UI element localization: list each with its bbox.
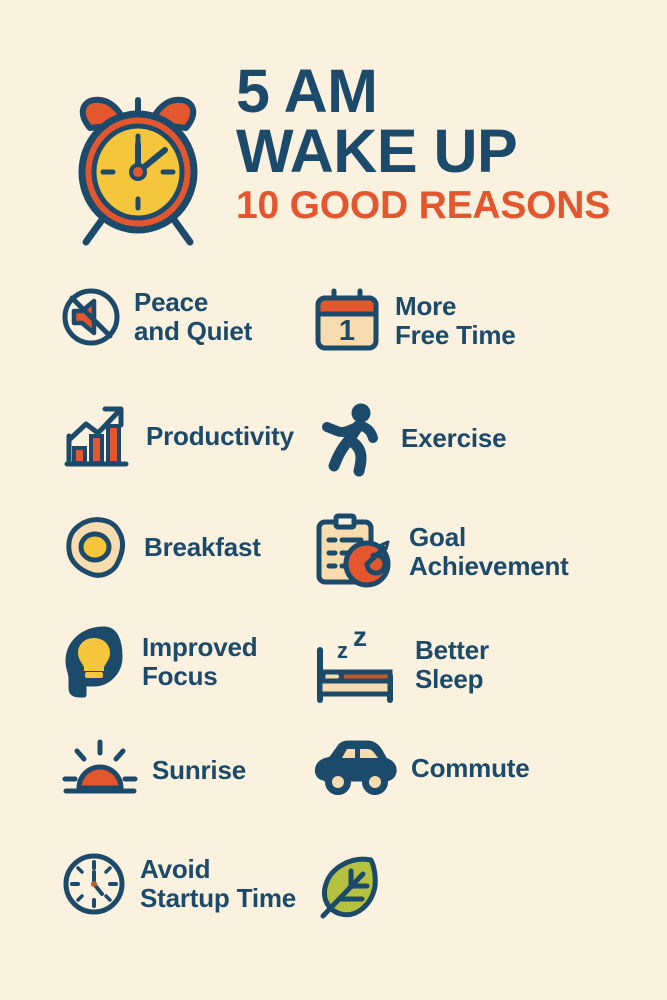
alarm-clock-icon xyxy=(48,84,228,259)
reason-label: Goal Achievement xyxy=(409,523,569,581)
sleep-z-large: z xyxy=(353,624,367,652)
car-icon xyxy=(311,738,399,800)
growth-chart-icon xyxy=(60,400,134,474)
reason-label: More Free Time xyxy=(395,292,516,350)
reason-item-commute[interactable]: Commute xyxy=(305,738,667,800)
sunrise-icon xyxy=(60,738,140,804)
title-line-1: 5 AM xyxy=(236,62,667,122)
reason-item-better-sleep[interactable]: z z Better Sleep xyxy=(305,624,667,706)
header-titles: 5 AM WAKE UP 10 GOOD REASONS xyxy=(236,62,667,226)
reason-label: Peace and Quiet xyxy=(134,288,252,346)
reason-label: Productivity xyxy=(146,422,294,451)
reason-row: Improved Focus z z Better Sleep xyxy=(0,624,667,738)
reason-item-leaf[interactable] xyxy=(305,850,667,924)
reason-row: Avoid Startup Time xyxy=(0,850,667,960)
reason-item-sunrise[interactable]: Sunrise xyxy=(0,738,305,804)
reason-row: Productivity Exercise xyxy=(0,400,667,512)
calendar-icon: 1 xyxy=(311,286,383,356)
poster-subtitle: 10 GOOD REASONS xyxy=(236,186,667,227)
reason-label: Better Sleep xyxy=(415,636,489,694)
title-line-2: WAKE UP xyxy=(236,122,667,182)
mute-speaker-icon xyxy=(60,286,122,348)
reason-item-peace-and-quiet[interactable]: Peace and Quiet xyxy=(0,286,305,348)
reason-label: Commute xyxy=(411,754,530,783)
infographic-poster: 5 AM WAKE UP 10 GOOD REASONS Peace and Q… xyxy=(0,0,667,1000)
calendar-day: 1 xyxy=(339,315,355,347)
clipboard-target-icon xyxy=(311,512,397,592)
reason-row: Sunrise Commute xyxy=(0,738,667,850)
reason-label: Exercise xyxy=(401,424,506,453)
reason-item-more-free-time[interactable]: 1 More Free Time xyxy=(305,286,667,356)
reason-item-productivity[interactable]: Productivity xyxy=(0,400,305,474)
reason-label: Sunrise xyxy=(152,756,246,785)
reason-item-avoid-startup-time[interactable]: Avoid Startup Time xyxy=(0,850,305,918)
running-person-icon xyxy=(311,400,389,478)
fried-egg-icon xyxy=(60,512,132,584)
reason-item-exercise[interactable]: Exercise xyxy=(305,400,667,478)
reasons-grid: Peace and Quiet 1 More Free Time xyxy=(0,286,667,960)
sleep-z-small: z xyxy=(337,638,348,663)
leaf-icon xyxy=(311,850,385,924)
poster-header: 5 AM WAKE UP 10 GOOD REASONS xyxy=(0,62,667,262)
reason-label: Breakfast xyxy=(144,533,261,562)
reason-label: Avoid Startup Time xyxy=(140,855,296,913)
reason-row: Peace and Quiet 1 More Free Time xyxy=(0,286,667,400)
reason-row: Breakfast xyxy=(0,512,667,624)
reason-item-improved-focus[interactable]: Improved Focus xyxy=(0,624,305,700)
reason-label: Improved Focus xyxy=(142,633,257,691)
wall-clock-icon xyxy=(60,850,128,918)
reason-item-goal-achievement[interactable]: Goal Achievement xyxy=(305,512,667,592)
bed-sleep-icon: z z xyxy=(311,624,403,706)
head-lightbulb-icon xyxy=(60,624,130,700)
reason-item-breakfast[interactable]: Breakfast xyxy=(0,512,305,584)
